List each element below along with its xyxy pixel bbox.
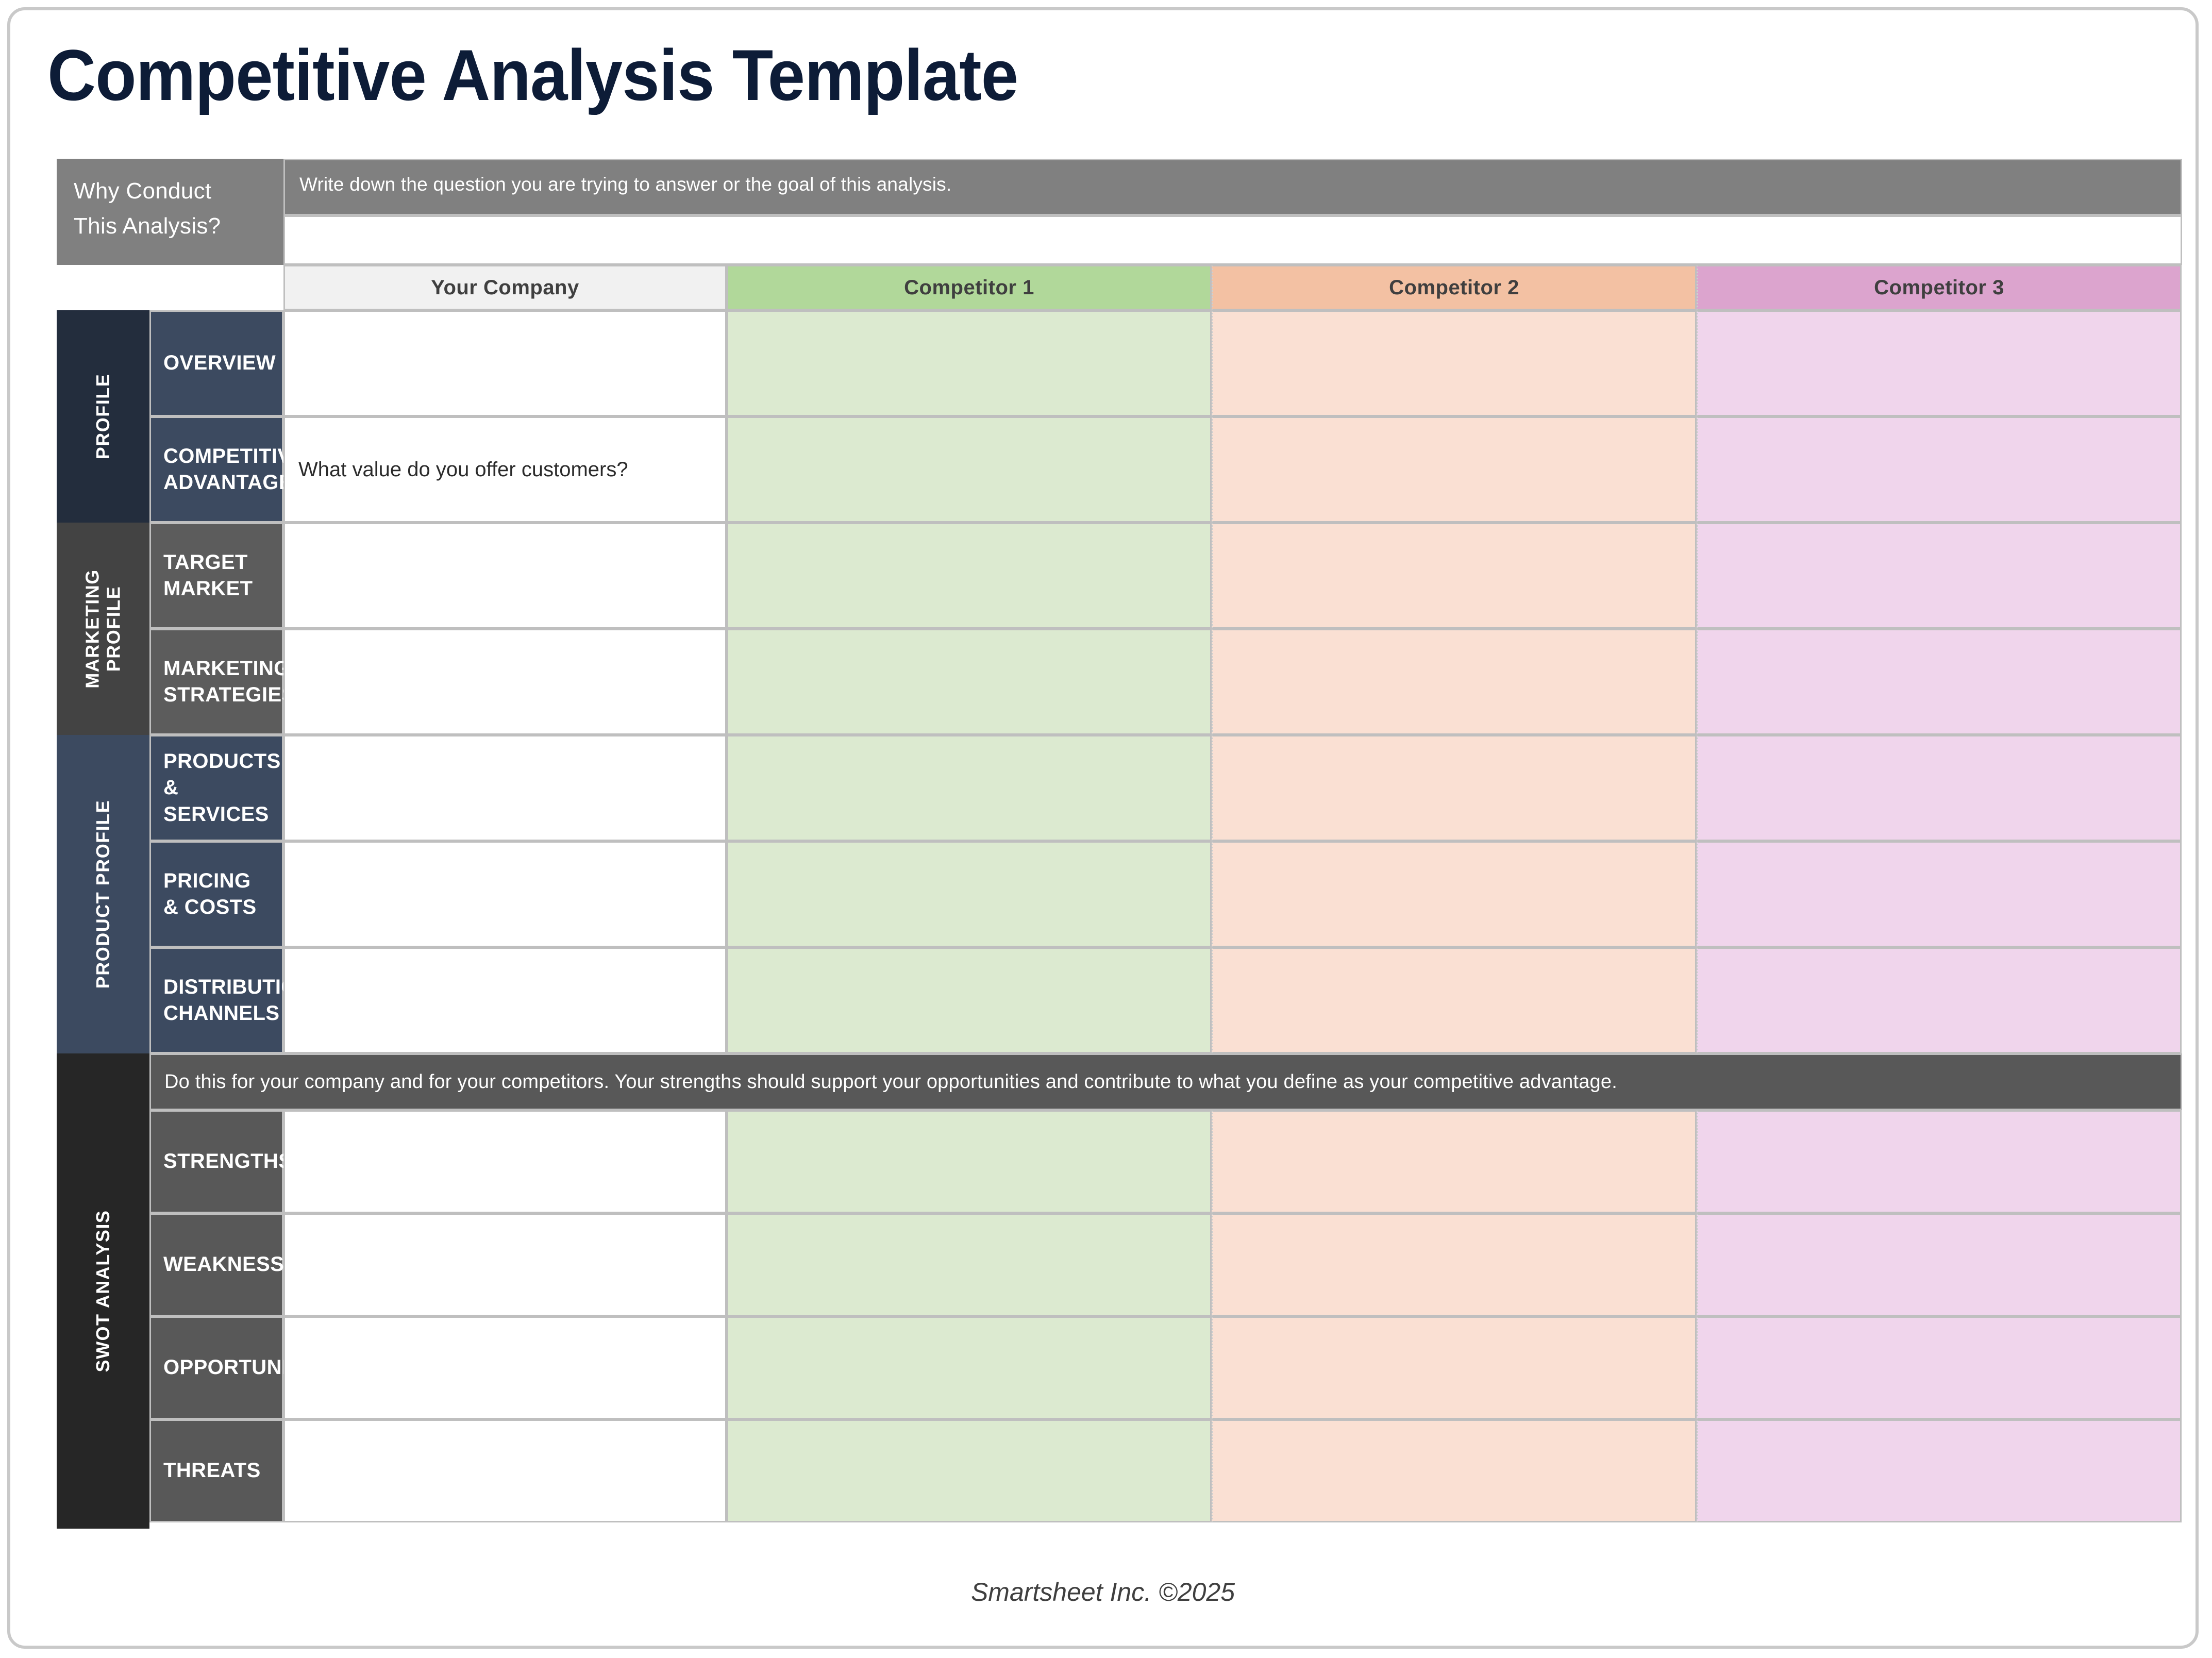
section-band-marketing-profile: MARKETING PROFILE	[57, 523, 149, 735]
cell-distribution-channels-competitor-1[interactable]	[727, 947, 1212, 1053]
section-swot-analysis: SWOT ANALYSIS Do this for your company a…	[57, 1053, 2182, 1529]
table-row: COMPETITIVE ADVANTAGE What value do you …	[149, 416, 2182, 523]
cell-weaknesses-competitor-2[interactable]	[1212, 1213, 1697, 1316]
cell-competitive-advantage-competitor-1[interactable]	[727, 416, 1212, 523]
table-row: WEAKNESSES	[149, 1213, 2182, 1316]
section-marketing-profile: MARKETING PROFILE TARGET MARKET	[57, 523, 2182, 735]
row-label-line1: TARGET	[163, 549, 253, 576]
section-band-label: MARKETING PROFILE	[82, 536, 125, 722]
row-label-target-market: TARGET MARKET	[149, 523, 283, 629]
cell-target-market-competitor-2[interactable]	[1212, 523, 1697, 629]
cell-threats-competitor-2[interactable]	[1212, 1419, 1697, 1522]
cell-weaknesses-competitor-1[interactable]	[727, 1213, 1212, 1316]
section-band-swot-analysis: SWOT ANALYSIS	[57, 1053, 149, 1529]
cell-weaknesses-your-company[interactable]	[283, 1213, 727, 1316]
cell-distribution-channels-your-company[interactable]	[283, 947, 727, 1053]
table-row: THREATS	[149, 1419, 2182, 1522]
why-conduct-line1: Why Conduct	[74, 174, 266, 209]
cell-threats-competitor-1[interactable]	[727, 1419, 1212, 1522]
table-row: PRODUCTS & SERVICES	[149, 735, 2182, 841]
cell-overview-competitor-3[interactable]	[1697, 310, 2182, 416]
cell-opportunities-your-company[interactable]	[283, 1316, 727, 1419]
cell-overview-competitor-2[interactable]	[1212, 310, 1697, 416]
cell-target-market-your-company[interactable]	[283, 523, 727, 629]
cell-strengths-competitor-3[interactable]	[1697, 1110, 2182, 1213]
row-label-competitive-advantage: COMPETITIVE ADVANTAGE	[149, 416, 283, 523]
table-row: TARGET MARKET	[149, 523, 2182, 629]
section-product-profile: PRODUCT PROFILE PRODUCTS & SERVICES PRIC…	[57, 735, 2182, 1053]
cell-strengths-competitor-2[interactable]	[1212, 1110, 1697, 1213]
section-profile: PROFILE OVERVIEW COMPETITIVE ADVANTAGE	[57, 310, 2182, 523]
table-row: OPPORTUNITIES	[149, 1316, 2182, 1419]
column-header-competitor-3[interactable]: Competitor 3	[1697, 265, 2182, 310]
row-label-overview: OVERVIEW	[149, 310, 283, 416]
column-header-row: Your Company Competitor 1 Competitor 2 C…	[57, 265, 2182, 310]
cell-pricing-costs-competitor-2[interactable]	[1212, 841, 1697, 947]
cell-products-services-your-company[interactable]	[283, 735, 727, 841]
cell-pricing-costs-competitor-1[interactable]	[727, 841, 1212, 947]
row-label-weaknesses: WEAKNESSES	[149, 1213, 283, 1316]
cell-marketing-strategies-competitor-2[interactable]	[1212, 629, 1697, 735]
cell-opportunities-competitor-2[interactable]	[1212, 1316, 1697, 1419]
section-band-label: PRODUCT PROFILE	[92, 800, 114, 989]
cell-competitive-advantage-competitor-3[interactable]	[1697, 416, 2182, 523]
row-label-strengths: STRENGTHS	[149, 1110, 283, 1213]
row-label-line2: MARKET	[163, 576, 253, 602]
row-label-distribution-channels: DISTRIBUTION CHANNELS	[149, 947, 283, 1053]
cell-products-services-competitor-3[interactable]	[1697, 735, 2182, 841]
cell-distribution-channels-competitor-2[interactable]	[1212, 947, 1697, 1053]
cell-competitive-advantage-your-company[interactable]: What value do you offer customers?	[283, 416, 727, 523]
analysis-goal-input[interactable]	[283, 215, 2182, 265]
cell-overview-your-company[interactable]	[283, 310, 727, 416]
column-header-your-company[interactable]: Your Company	[283, 265, 727, 310]
table-row: DISTRIBUTION CHANNELS	[149, 947, 2182, 1053]
why-conduct-label: Why Conduct This Analysis?	[57, 159, 283, 265]
section-band-product-profile: PRODUCT PROFILE	[57, 735, 149, 1053]
cell-marketing-strategies-competitor-1[interactable]	[727, 629, 1212, 735]
row-label-threats: THREATS	[149, 1419, 283, 1522]
table-row: PRICING & COSTS	[149, 841, 2182, 947]
cell-strengths-your-company[interactable]	[283, 1110, 727, 1213]
page-title: Competitive Analysis Template	[47, 37, 1018, 113]
cell-pricing-costs-your-company[interactable]	[283, 841, 727, 947]
intro-prompt-row: Why Conduct This Analysis? Write down th…	[57, 159, 2182, 265]
column-header-blank	[57, 265, 283, 310]
cell-marketing-strategies-competitor-3[interactable]	[1697, 629, 2182, 735]
table-row: MARKETING STRATEGIES	[149, 629, 2182, 735]
section-band-profile: PROFILE	[57, 310, 149, 523]
row-label-pricing-costs: PRICING & COSTS	[149, 841, 283, 947]
cell-competitive-advantage-competitor-2[interactable]	[1212, 416, 1697, 523]
cell-opportunities-competitor-3[interactable]	[1697, 1316, 2182, 1419]
cell-products-services-competitor-2[interactable]	[1212, 735, 1697, 841]
table-row: OVERVIEW	[149, 310, 2182, 416]
cell-target-market-competitor-1[interactable]	[727, 523, 1212, 629]
cell-distribution-channels-competitor-3[interactable]	[1697, 947, 2182, 1053]
row-label-opportunities: OPPORTUNITIES	[149, 1316, 283, 1419]
cell-weaknesses-competitor-3[interactable]	[1697, 1213, 2182, 1316]
cell-threats-your-company[interactable]	[283, 1419, 727, 1522]
column-header-competitor-1[interactable]: Competitor 1	[727, 265, 1212, 310]
template-page: Competitive Analysis Template Why Conduc…	[7, 7, 2199, 1649]
cell-pricing-costs-competitor-3[interactable]	[1697, 841, 2182, 947]
cell-products-services-competitor-1[interactable]	[727, 735, 1212, 841]
table-row: STRENGTHS	[149, 1110, 2182, 1213]
cell-target-market-competitor-3[interactable]	[1697, 523, 2182, 629]
section-band-label: SWOT ANALYSIS	[92, 1210, 114, 1372]
cell-overview-competitor-1[interactable]	[727, 310, 1212, 416]
row-label-products-services: PRODUCTS & SERVICES	[149, 735, 283, 841]
why-conduct-line2: This Analysis?	[74, 209, 266, 244]
cell-marketing-strategies-your-company[interactable]	[283, 629, 727, 735]
swot-instruction-banner: Do this for your company and for your co…	[149, 1053, 2182, 1110]
cell-opportunities-competitor-1[interactable]	[727, 1316, 1212, 1419]
analysis-goal-prompt: Write down the question you are trying t…	[283, 159, 2182, 215]
cell-strengths-competitor-1[interactable]	[727, 1110, 1212, 1213]
section-band-label: PROFILE	[92, 374, 114, 460]
row-label-marketing-strategies: MARKETING STRATEGIES	[149, 629, 283, 735]
competitive-analysis-table: Why Conduct This Analysis? Write down th…	[57, 159, 2182, 1529]
footer-copyright: Smartsheet Inc. ©2025	[10, 1577, 2196, 1607]
cell-threats-competitor-3[interactable]	[1697, 1419, 2182, 1522]
column-header-competitor-2[interactable]: Competitor 2	[1212, 265, 1697, 310]
